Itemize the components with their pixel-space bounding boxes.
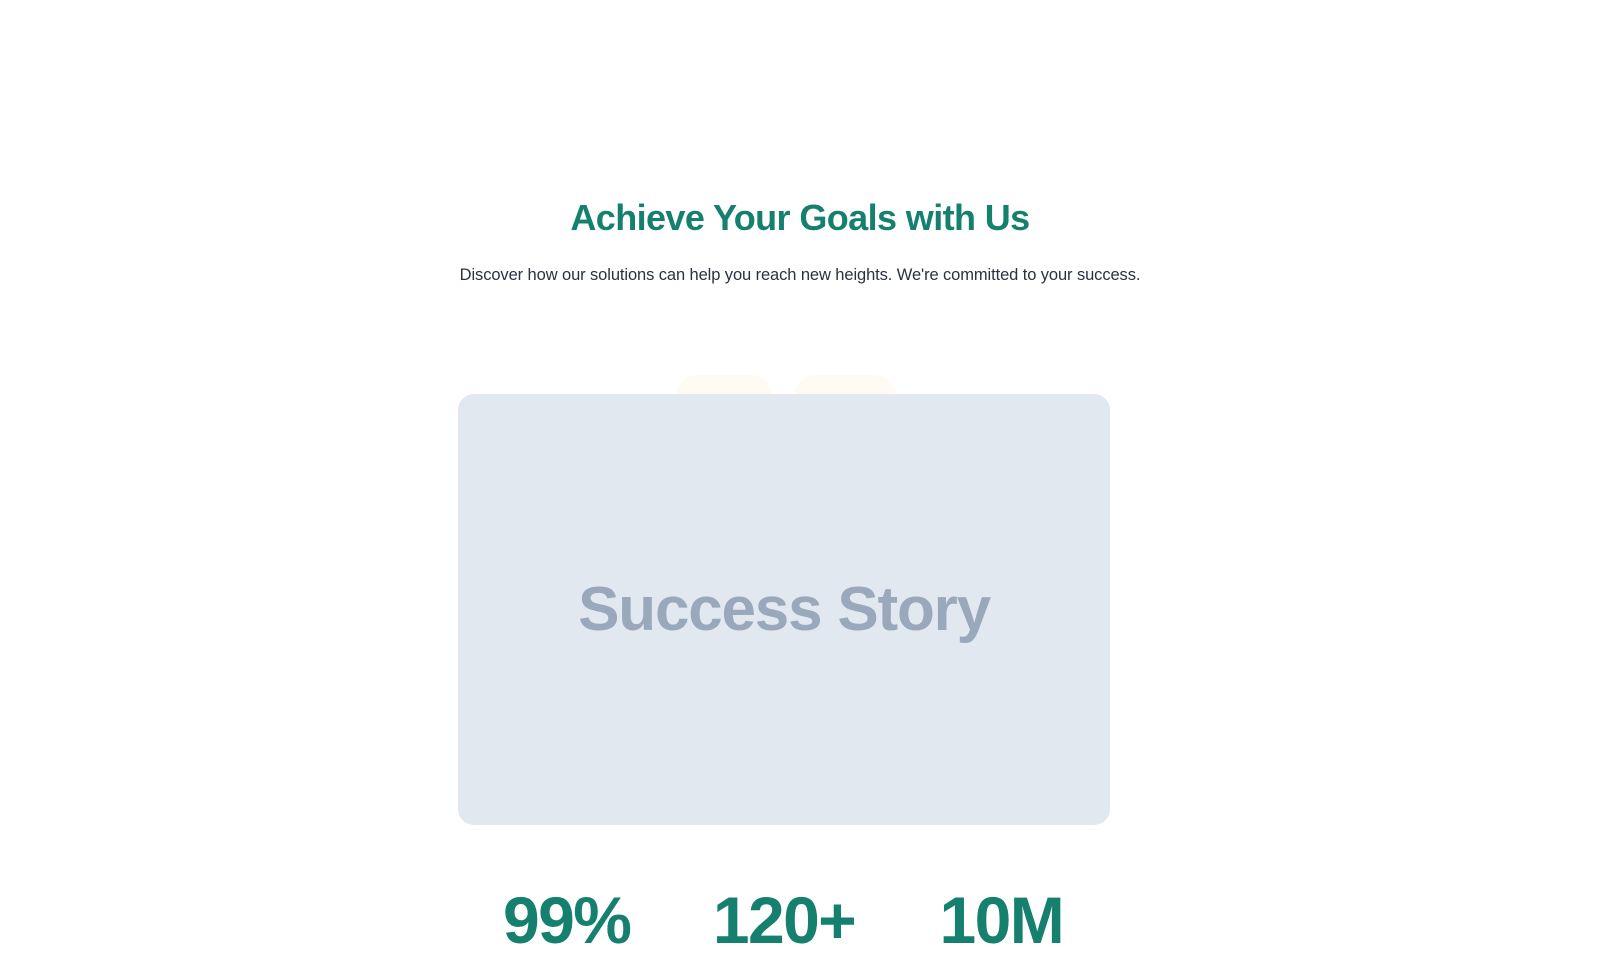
landing-page: Achieve Your Goals with Us Discover how … <box>0 0 1600 978</box>
stat-item-1: 120+ <box>675 880 892 966</box>
page-title: Achieve Your Goals with Us <box>0 192 1600 244</box>
stat-value: 120+ <box>675 880 892 960</box>
stat-item-2: 10M <box>893 880 1110 966</box>
media-placeholder-label: Success Story <box>578 574 990 646</box>
stat-item-0: 99% <box>458 880 675 966</box>
hero-header: Achieve Your Goals with Us Discover how … <box>0 192 1600 288</box>
stats-row: 99% 120+ 10M <box>458 880 1110 966</box>
success-story-image-placeholder: Success Story <box>458 394 1110 825</box>
stat-value: 10M <box>893 880 1110 960</box>
stat-value: 99% <box>458 880 675 960</box>
page-subtitle: Discover how our solutions can help you … <box>0 262 1600 288</box>
